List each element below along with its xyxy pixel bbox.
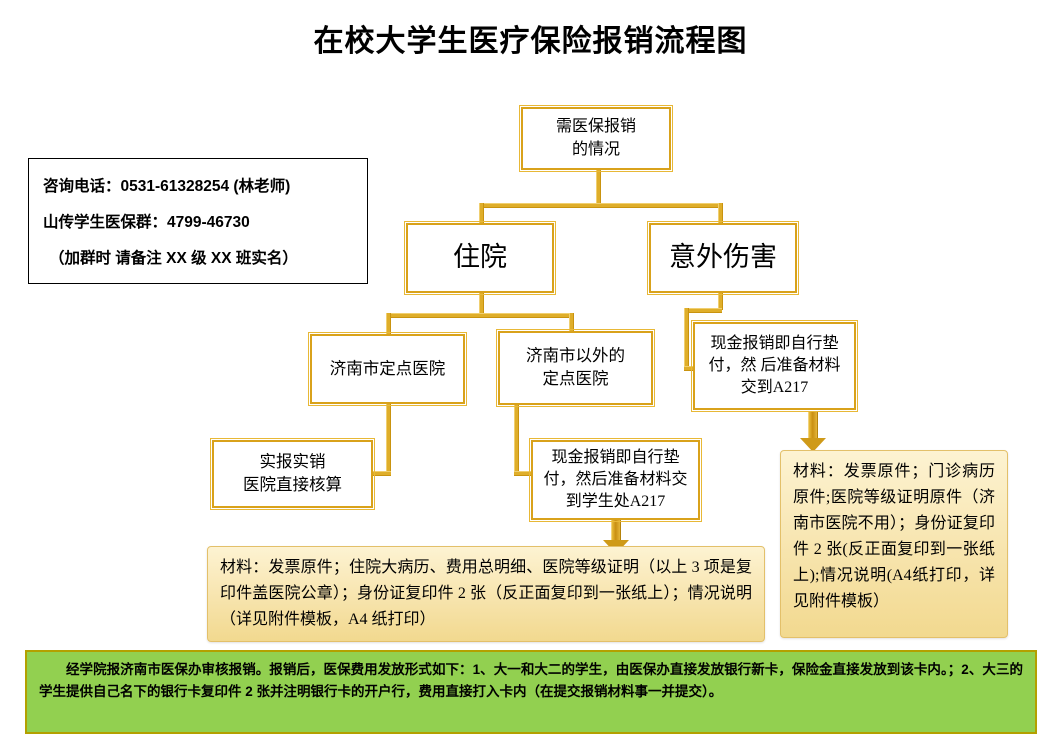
connector-to-jinan-hospital [386,313,391,335]
node-direct-settlement-line2: 医院直接核算 [243,474,342,497]
node-outside-jinan-hospital[interactable]: 济南市以外的 定点医院 [498,331,653,405]
node-outside-jinan-line2: 定点医院 [526,368,625,391]
connector-jinan-into-settle [371,471,391,476]
connector-root-split [479,203,723,208]
node-jinan-designated-hospital[interactable]: 济南市定点医院 [310,334,465,404]
contact-phone-line: 咨询电话：0531-61328254 (林老师) [43,169,353,205]
note-accident-materials-text: 材料：发票原件；门诊病历原件;医院等级证明原件（济南市医院不用）；身份证复印件 … [793,459,995,614]
connector-jinan-stem [386,403,391,475]
node-accident-cash-reimbursement-label: 现金报销即自行垫付，然 后准备材料交到A217 [695,333,854,399]
node-outside-jinan-hospital-label: 济南市以外的 定点医院 [520,345,631,391]
contact-info-box: 咨询电话：0531-61328254 (林老师) 山传学生医保群：4799-46… [28,158,368,284]
node-jinan-designated-hospital-label: 济南市定点医院 [324,358,452,381]
node-need-reimbursement[interactable]: 需医保报销 的情况 [521,107,671,170]
node-need-reimbursement-line2: 的情况 [556,139,636,161]
page-title: 在校大学生医疗保险报销流程图 [0,16,1061,60]
connector-hospital-split [386,313,574,318]
flowchart-canvas: 在校大学生医疗保险报销流程图 咨询电话：0531-61328254 (林老师) … [0,0,1061,743]
node-accidental-injury[interactable]: 意外伤害 [649,223,797,293]
arrow-down-to-accident-materials [800,412,826,452]
node-need-reimbursement-label: 需医保报销 的情况 [550,116,642,160]
connector-to-accident [718,203,723,225]
connector-to-hospital [479,203,484,225]
note-accident-materials: 材料：发票原件；门诊病历原件;医院等级证明原件（济南市医院不用）；身份证复印件 … [780,450,1008,638]
connector-outside-stem [514,403,519,475]
node-need-reimbursement-line1: 需医保报销 [556,116,636,138]
node-direct-settlement[interactable]: 实报实销 医院直接核算 [212,440,373,508]
node-direct-settlement-label: 实报实销 医院直接核算 [237,451,348,497]
contact-qq-group-line: 山传学生医保群：4799-46730 [43,205,353,241]
connector-accident-elbow [684,308,722,313]
connector-hospital-stem [479,292,484,315]
connector-accident-elbow-down [684,308,689,370]
note-hospital-materials-text: 材料：发票原件；住院大病历、费用总明细、医院等级证明（以上 3 项是复印件盖医院… [220,555,752,633]
node-accident-cash-reimbursement[interactable]: 现金报销即自行垫付，然 后准备材料交到A217 [693,322,856,410]
node-hospitalization[interactable]: 住院 [406,223,554,293]
node-accidental-injury-label: 意外伤害 [663,239,783,276]
note-hospital-materials: 材料：发票原件；住院大病历、费用总明细、医院等级证明（以上 3 项是复印件盖医院… [207,546,765,642]
connector-root-stem [596,170,601,204]
node-cash-student-office-label: 现金报销即自行垫付，然后准备材料交到学生处A217 [533,447,698,513]
node-hospitalization-label: 住院 [447,239,513,276]
node-direct-settlement-line1: 实报实销 [243,451,342,474]
node-cash-student-office[interactable]: 现金报销即自行垫付，然后准备材料交到学生处A217 [531,440,700,520]
contact-note-line: （加群时 请备注 XX 级 XX 班实名） [43,241,353,277]
summary-bar-text: 经学院报济南市医保办审核报销。报销后，医保费用发放形式如下：1、大一和大二的学生… [39,659,1023,704]
node-outside-jinan-line1: 济南市以外的 [526,345,625,368]
summary-bar: 经学院报济南市医保办审核报销。报销后，医保费用发放形式如下：1、大一和大二的学生… [25,650,1037,734]
